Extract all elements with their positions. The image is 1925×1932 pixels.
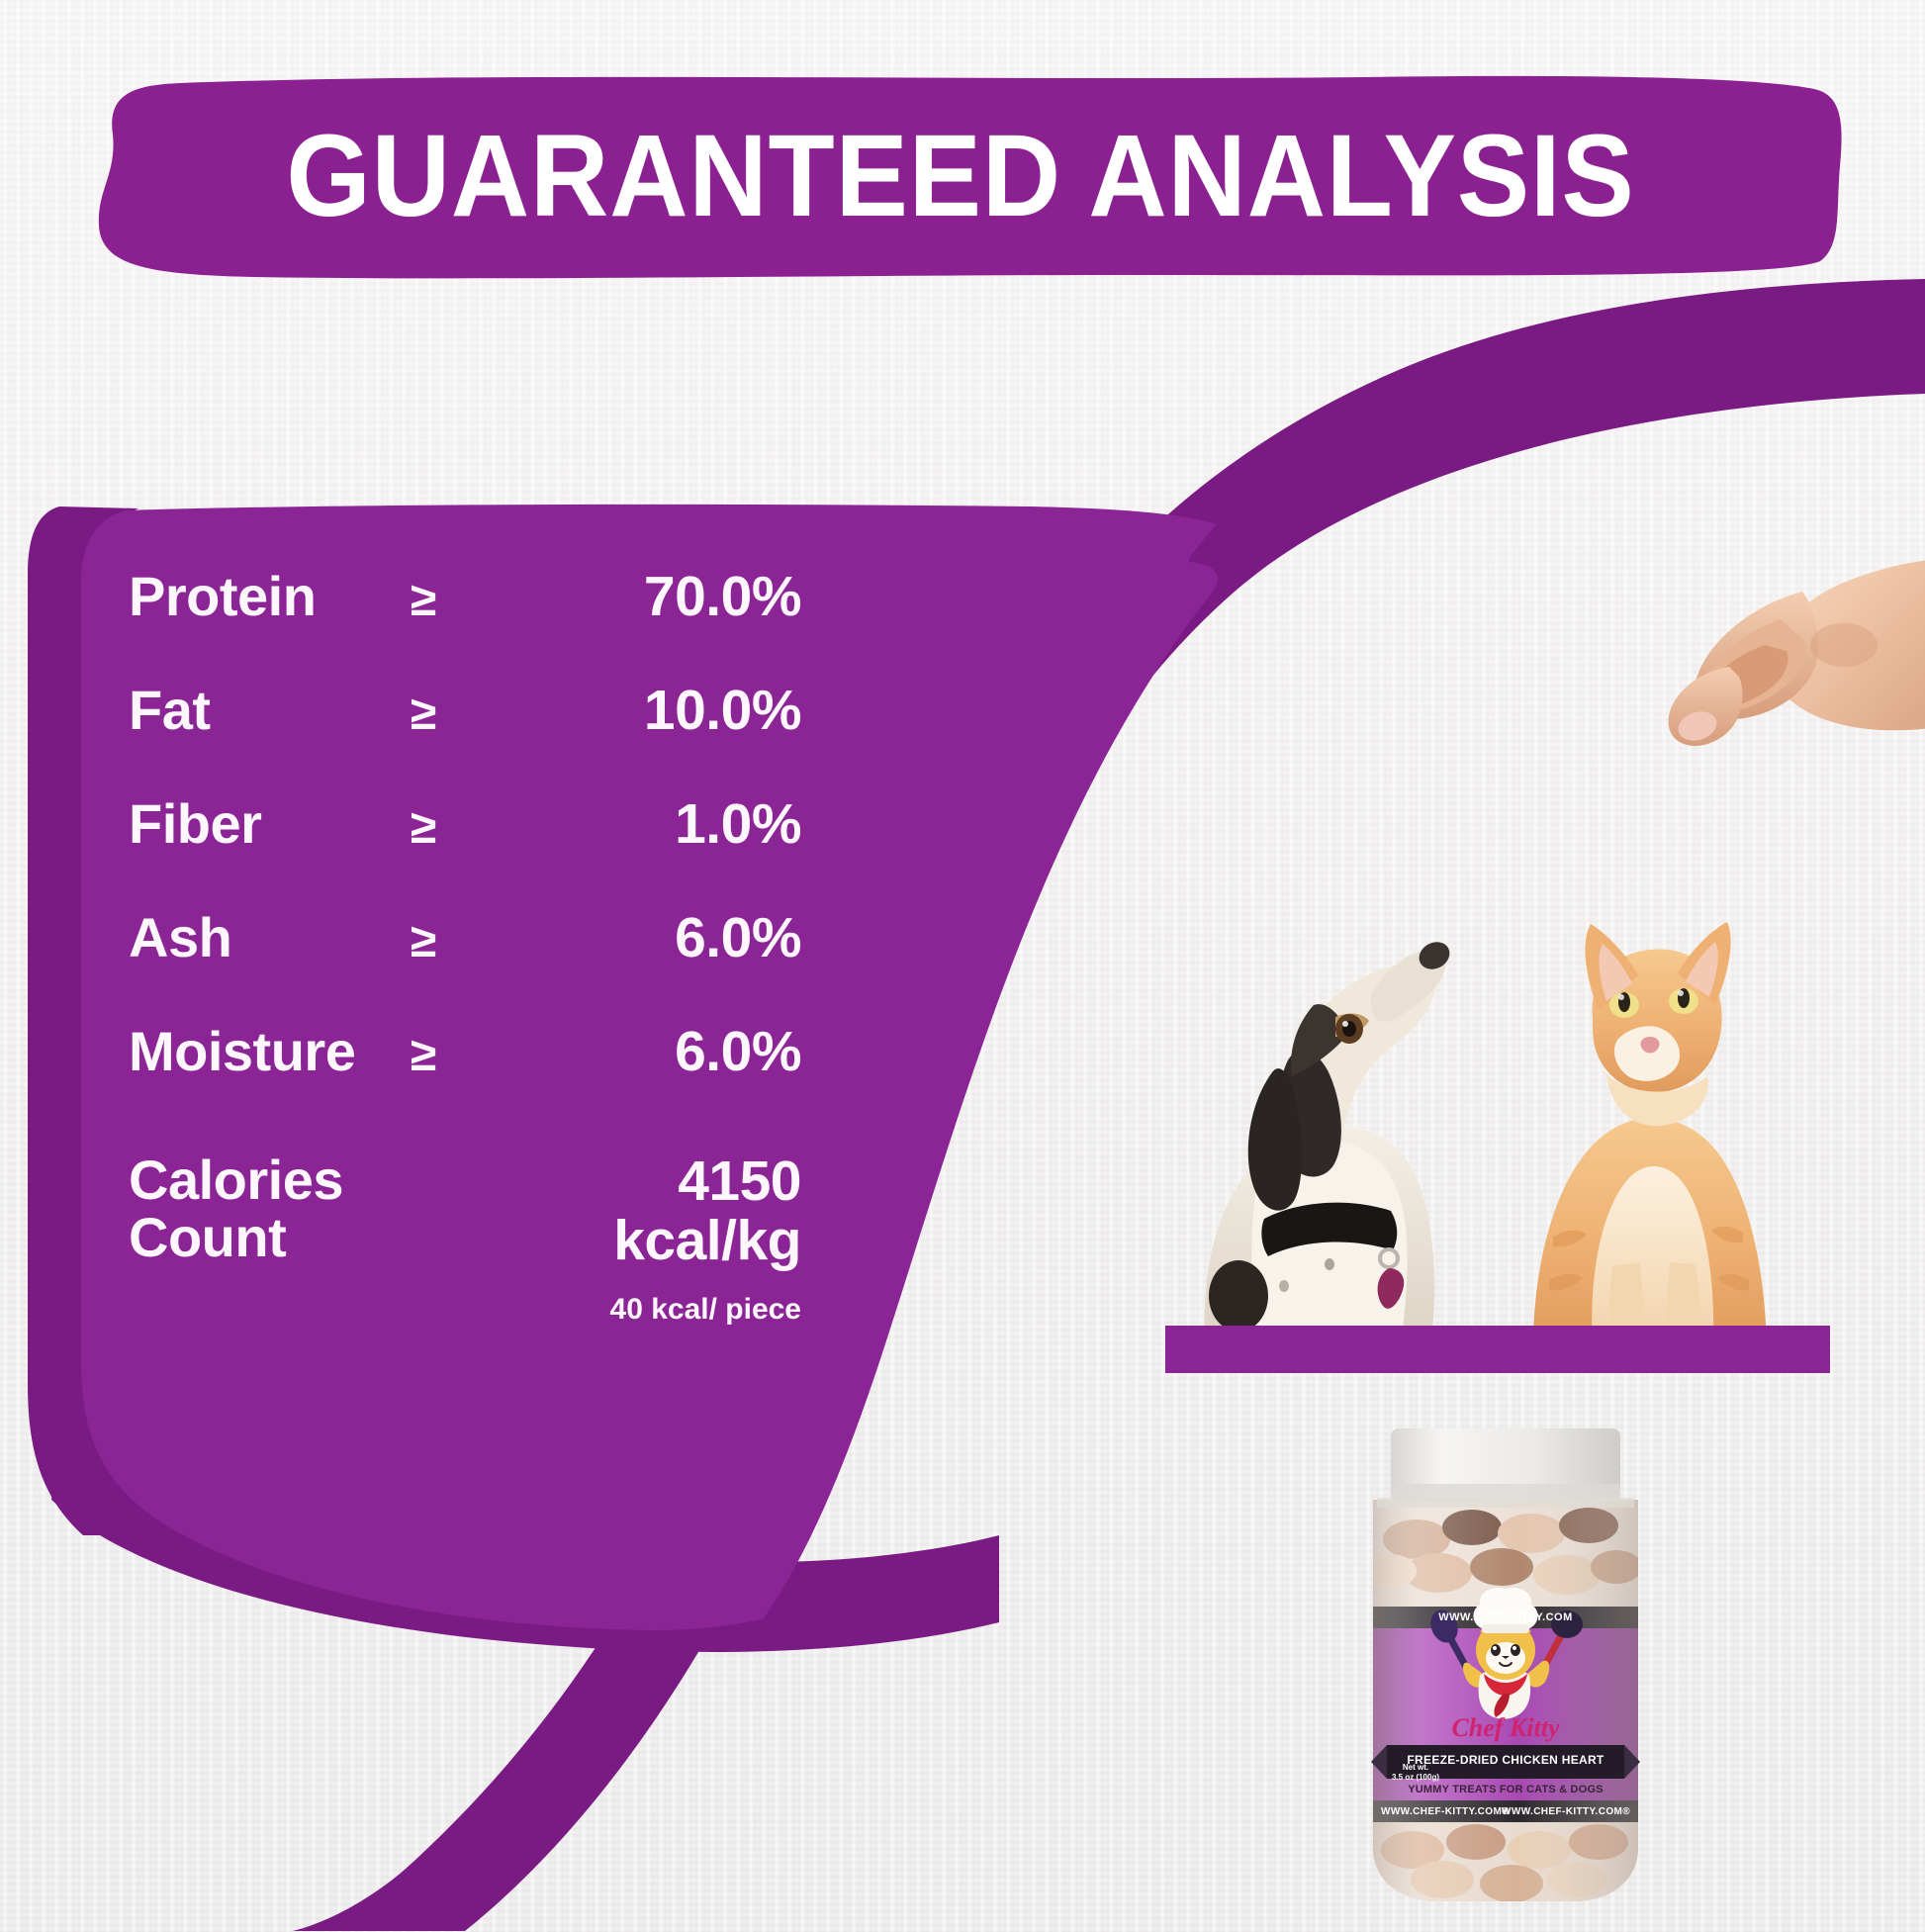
calories-value-number: 4150: [559, 1151, 801, 1211]
product-jar: WWW.CHEF-KITTY.COM Chef Kitty FREEZE-DRI…: [1347, 1423, 1664, 1907]
nutrient-name: Protein: [129, 568, 411, 626]
table-row: Moisture ≥ 6.0%: [129, 1019, 950, 1084]
guaranteed-analysis-table: Protein ≥ 70.0% Fat ≥ 10.0% Fiber ≥ 1.0%…: [129, 564, 950, 1327]
jar-brand: Chef Kitty: [1347, 1715, 1664, 1741]
hand-icon: [1634, 550, 1925, 760]
table-row: Fiber ≥ 1.0%: [129, 791, 950, 857]
cat-figure: [1533, 922, 1767, 1345]
nutrient-value: 70.0%: [559, 564, 950, 629]
page-title: GUARANTEED ANALYSIS: [139, 71, 1783, 281]
nutrient-value: 10.0%: [559, 678, 950, 743]
calories-label: Calories Count: [129, 1151, 559, 1266]
nutrient-value: 1.0%: [559, 791, 950, 857]
calories-value-unit: kcal/kg: [559, 1211, 801, 1270]
jar-website-top: WWW.CHEF-KITTY.COM: [1347, 1612, 1664, 1623]
calories-label-line2: Count: [129, 1209, 559, 1266]
calories-per-piece: 40 kcal/ piece: [559, 1293, 801, 1327]
nutrient-value: 6.0%: [559, 905, 950, 970]
hand-image: [1634, 550, 1925, 760]
nutrient-name: Ash: [129, 909, 411, 967]
nutrient-operator: ≥: [411, 914, 559, 968]
table-row: Ash ≥ 6.0%: [129, 905, 950, 970]
jar-website-bottom-right: WWW.CHEF-KITTY.COM®: [1502, 1806, 1630, 1817]
calories-row: Calories Count 4150 kcal/kg 40 kcal/ pie…: [129, 1151, 950, 1327]
jar-website-bottom-left: WWW.CHEF-KITTY.COM®: [1381, 1806, 1510, 1817]
table-row: Fat ≥ 10.0%: [129, 678, 950, 743]
calories-value: 4150 kcal/kg 40 kcal/ piece: [559, 1151, 950, 1327]
table-row: Protein ≥ 70.0%: [129, 564, 950, 629]
nutrient-value: 6.0%: [559, 1019, 950, 1084]
nutrient-operator: ≥: [411, 687, 559, 741]
pets-image: [1165, 871, 1808, 1345]
infographic-canvas: GUARANTEED ANALYSIS Protein ≥ 70.0% Fat …: [0, 0, 1925, 1932]
nutrient-operator: ≥: [411, 573, 559, 627]
nutrient-operator: ≥: [411, 1028, 559, 1082]
jar-tagline: YUMMY TREATS FOR CATS & DOGS: [1347, 1785, 1664, 1795]
nutrient-operator: ≥: [411, 800, 559, 855]
jar-icon: [1347, 1423, 1664, 1907]
header-banner: GUARANTEED ANALYSIS: [77, 71, 1844, 281]
nutrient-name: Fiber: [129, 795, 411, 854]
dog-figure: [1204, 937, 1454, 1345]
jar-net-weight: Net wt. 3.5 oz (100g): [1381, 1763, 1450, 1783]
calories-label-line1: Calories: [129, 1151, 559, 1209]
jar-net-weight-label: Net wt.: [1381, 1763, 1450, 1773]
nutrient-name: Fat: [129, 682, 411, 740]
dog-and-cat-icon: [1165, 871, 1808, 1345]
pets-shelf-bar: [1165, 1326, 1830, 1373]
nutrient-name: Moisture: [129, 1023, 411, 1081]
jar-net-weight-value: 3.5 oz (100g): [1381, 1773, 1450, 1783]
